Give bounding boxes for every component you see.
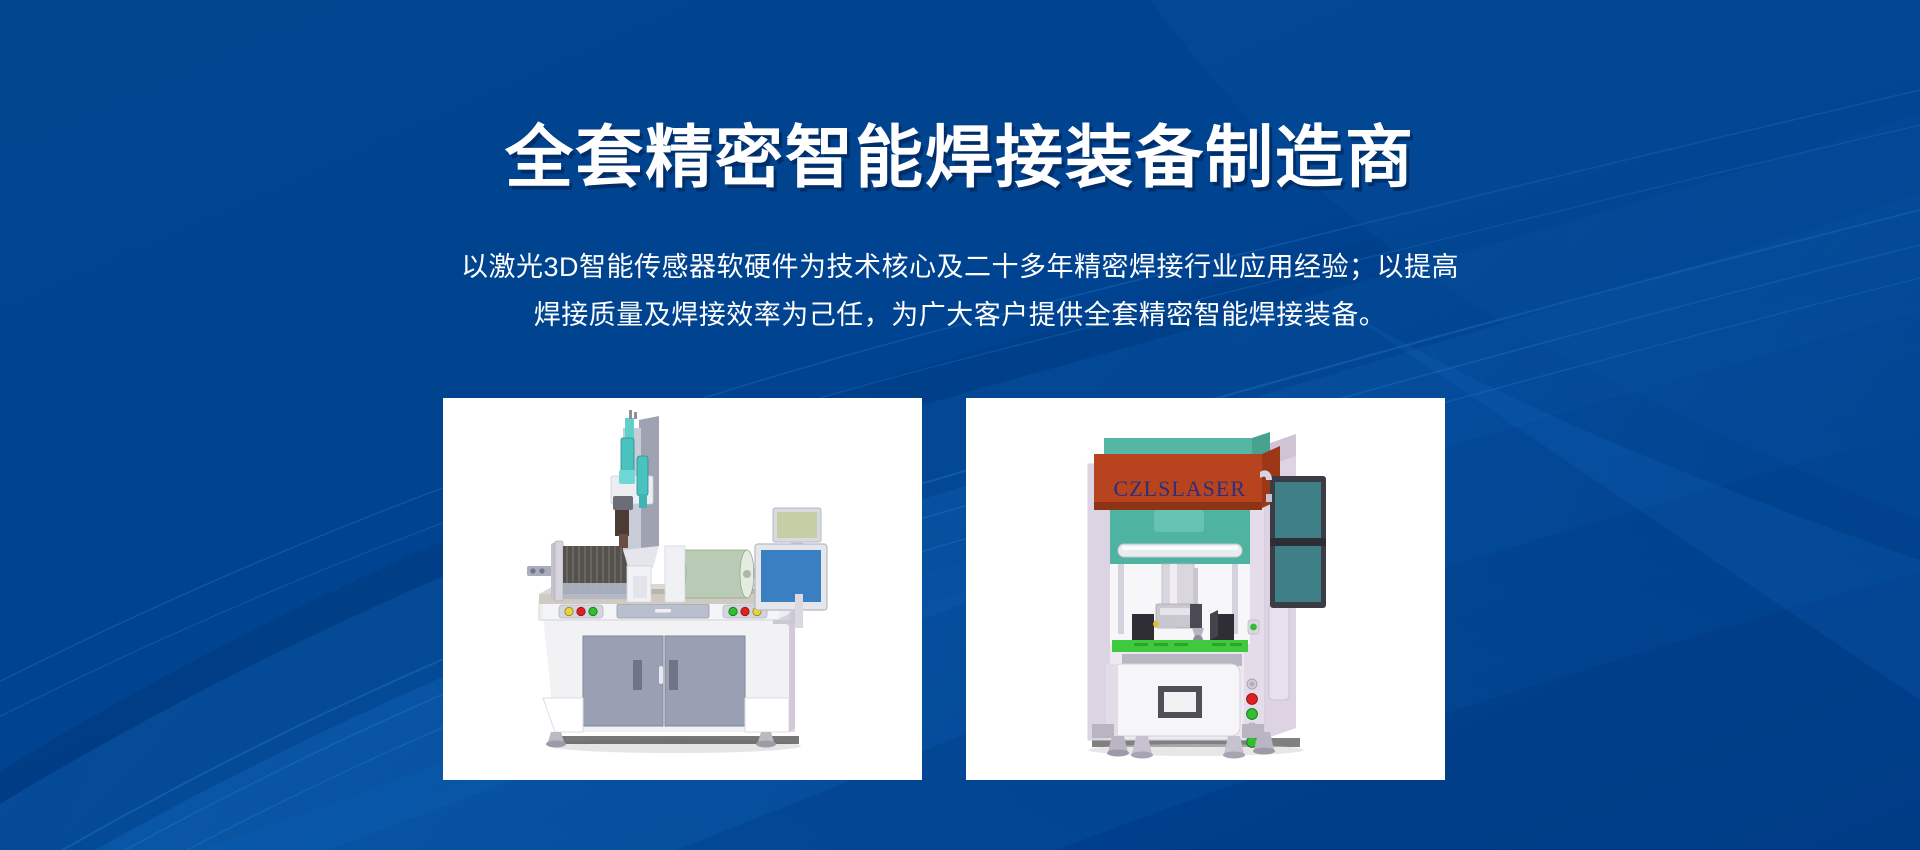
page-title: 全套精密智能焊接装备制造商: [505, 124, 1415, 192]
product-image-gallery: CZLSLASER: [443, 398, 1445, 780]
product-card-precision-welding-workstation[interactable]: [443, 398, 922, 780]
headline-container: 全套精密智能焊接装备制造商: [0, 78, 1920, 237]
subtitle-line-1: 以激光3D智能传感器软硬件为技术核心及二十多年精密焊接行业应用经验；以提高: [0, 243, 1920, 291]
subtitle-line-2: 焊接质量及焊接效率为己任，为广大客户提供全套精密智能焊接装备。: [0, 291, 1920, 339]
promo-banner: 全套精密智能焊接装备制造商 以激光3D智能传感器软硬件为技术核心及二十多年精密焊…: [0, 0, 1920, 850]
machine-illustration-workstation: [443, 398, 922, 780]
brand-label-czlslaser: CZLSLASER: [1114, 476, 1246, 502]
product-card-czlslaser-enclosed-welder[interactable]: CZLSLASER: [966, 398, 1445, 780]
machine-illustration-czlslaser: [966, 398, 1445, 780]
subtitle-container: 以激光3D智能传感器软硬件为技术核心及二十多年精密焊接行业应用经验；以提高 焊接…: [0, 243, 1920, 339]
